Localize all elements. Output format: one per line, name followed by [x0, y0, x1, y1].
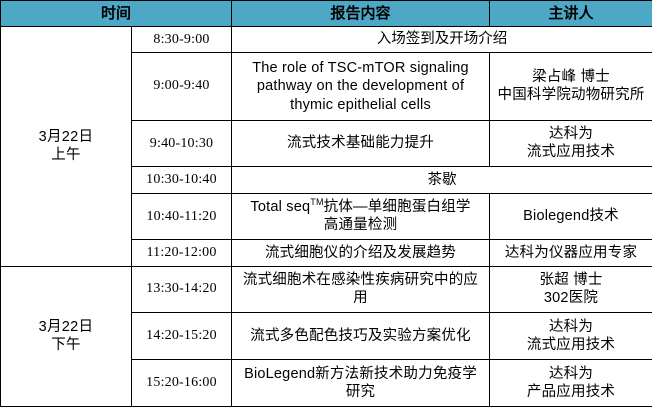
topic-cell: 流式细胞术在感染性疾病研究中的应用 — [232, 266, 490, 313]
topic-line: pathway on the development of — [236, 77, 485, 96]
topic-line: 流式细胞术在感染性疾病研究中的应用 — [236, 271, 485, 308]
trademark-superscript: TM — [310, 197, 323, 207]
column-header-time: 时间 — [1, 1, 232, 27]
topic-line: 流式细胞仪的介绍及发展趋势 — [236, 244, 485, 263]
session-label-line: 上午 — [5, 146, 127, 165]
speaker-cell: 达科为流式应用技术 — [490, 120, 652, 167]
topic-cell: 流式技术基础能力提升 — [232, 120, 490, 167]
time-slot-cell: 10:30-10:40 — [132, 167, 232, 193]
speaker-cell: 达科为流式应用技术 — [490, 313, 652, 360]
speaker-line: 302医院 — [494, 289, 648, 308]
speaker-line: 达科为仪器应用专家 — [494, 244, 648, 263]
topic-line: 茶歇 — [236, 171, 648, 190]
speaker-cell: 达科为产品应用技术 — [490, 360, 652, 407]
topic-cell-merged: 茶歇 — [232, 167, 652, 193]
speaker-line: Biolegend技术 — [494, 207, 648, 226]
topic-line: 流式技术基础能力提升 — [236, 134, 485, 153]
topic-cell-merged: 入场签到及开场介绍 — [232, 27, 652, 53]
column-header-speaker: 主讲人 — [490, 1, 652, 27]
session-label-line: 下午 — [5, 336, 127, 355]
time-slot-cell: 9:00-9:40 — [132, 53, 232, 120]
topic-cell: Total seqTM抗体—单细胞蛋白组学高通量检测 — [232, 193, 490, 240]
table-header: 时间 报告内容 主讲人 — [1, 1, 652, 27]
speaker-line: 中国科学院动物研究所 — [494, 86, 648, 105]
speaker-cell: 梁占峰 博士中国科学院动物研究所 — [490, 53, 652, 120]
topic-line: The role of TSC-mTOR signaling — [236, 59, 485, 78]
time-slot-cell: 9:40-10:30 — [132, 120, 232, 167]
topic-line: 流式多色配色技巧及实验方案优化 — [236, 327, 485, 346]
speaker-line: 流式应用技术 — [494, 143, 648, 162]
time-slot-cell: 8:30-9:00 — [132, 27, 232, 53]
topic-cell: 流式细胞仪的介绍及发展趋势 — [232, 240, 490, 266]
speaker-cell: Biolegend技术 — [490, 193, 652, 240]
table-row: 3月22日下午13:30-14:20流式细胞术在感染性疾病研究中的应用张超 博士… — [1, 266, 652, 313]
session-label-cell: 3月22日上午 — [1, 27, 132, 267]
speaker-line: 梁占峰 博士 — [494, 68, 648, 87]
topic-cell: The role of TSC-mTOR signalingpathway on… — [232, 53, 490, 120]
topic-line: 研究 — [236, 383, 485, 402]
speaker-line: 达科为 — [494, 365, 648, 384]
session-label-cell: 3月22日下午 — [1, 266, 132, 406]
speaker-line: 流式应用技术 — [494, 336, 648, 355]
topic-line: thymic epithelial cells — [236, 96, 485, 115]
agenda-table: 时间 报告内容 主讲人 3月22日上午8:30-9:00入场签到及开场介绍9:0… — [0, 0, 652, 407]
topic-line: 入场签到及开场介绍 — [236, 30, 648, 49]
topic-line: Total seqTM抗体—单细胞蛋白组学 — [236, 198, 485, 217]
session-label-line: 3月22日 — [5, 318, 127, 337]
session-label-line: 3月22日 — [5, 128, 127, 147]
speaker-line: 达科为 — [494, 318, 648, 337]
topic-cell: 流式多色配色技巧及实验方案优化 — [232, 313, 490, 360]
speaker-line: 产品应用技术 — [494, 383, 648, 402]
speaker-cell: 张超 博士302医院 — [490, 266, 652, 313]
table-row: 3月22日上午8:30-9:00入场签到及开场介绍 — [1, 27, 652, 53]
time-slot-cell: 10:40-11:20 — [132, 193, 232, 240]
topic-line: BioLegend新方法新技术助力免疫学 — [236, 365, 485, 384]
topic-cell: BioLegend新方法新技术助力免疫学研究 — [232, 360, 490, 407]
time-slot-cell: 13:30-14:20 — [132, 266, 232, 313]
time-slot-cell: 15:20-16:00 — [132, 360, 232, 407]
speaker-line: 张超 博士 — [494, 271, 648, 290]
table-body: 3月22日上午8:30-9:00入场签到及开场介绍9:00-9:40The ro… — [1, 27, 652, 407]
speaker-cell: 达科为仪器应用专家 — [490, 240, 652, 266]
column-header-topic: 报告内容 — [232, 1, 490, 27]
time-slot-cell: 14:20-15:20 — [132, 313, 232, 360]
speaker-line: 达科为 — [494, 125, 648, 144]
header-row: 时间 报告内容 主讲人 — [1, 1, 652, 27]
topic-line: 高通量检测 — [236, 216, 485, 235]
time-slot-cell: 11:20-12:00 — [132, 240, 232, 266]
